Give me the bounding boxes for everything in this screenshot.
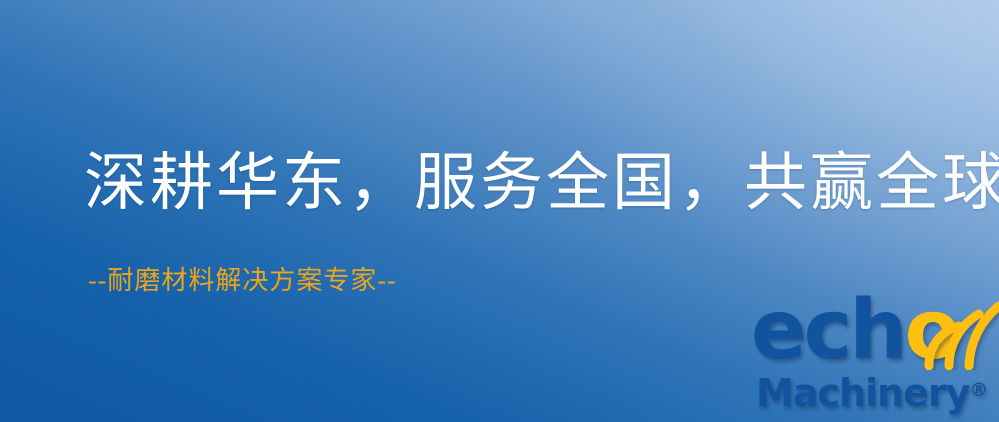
banner-headline: 深耕华东，服务全国，共赢全球	[84, 152, 999, 215]
banner-subheadline: --耐磨材料解决方案专家--	[88, 268, 397, 294]
registered-trademark-icon: ®	[969, 379, 988, 401]
logo-word-ech: ech	[751, 283, 905, 378]
promo-banner: 深耕华东，服务全国，共赢全球 --耐磨材料解决方案专家-- echo Machi…	[0, 0, 999, 422]
echo-wave-icon	[913, 292, 999, 370]
logo-machinery-text: Machinery	[756, 371, 969, 415]
echo-machinery-logo: echo Machinery®	[745, 296, 999, 422]
logo-company-line: Machinery®	[756, 374, 988, 412]
